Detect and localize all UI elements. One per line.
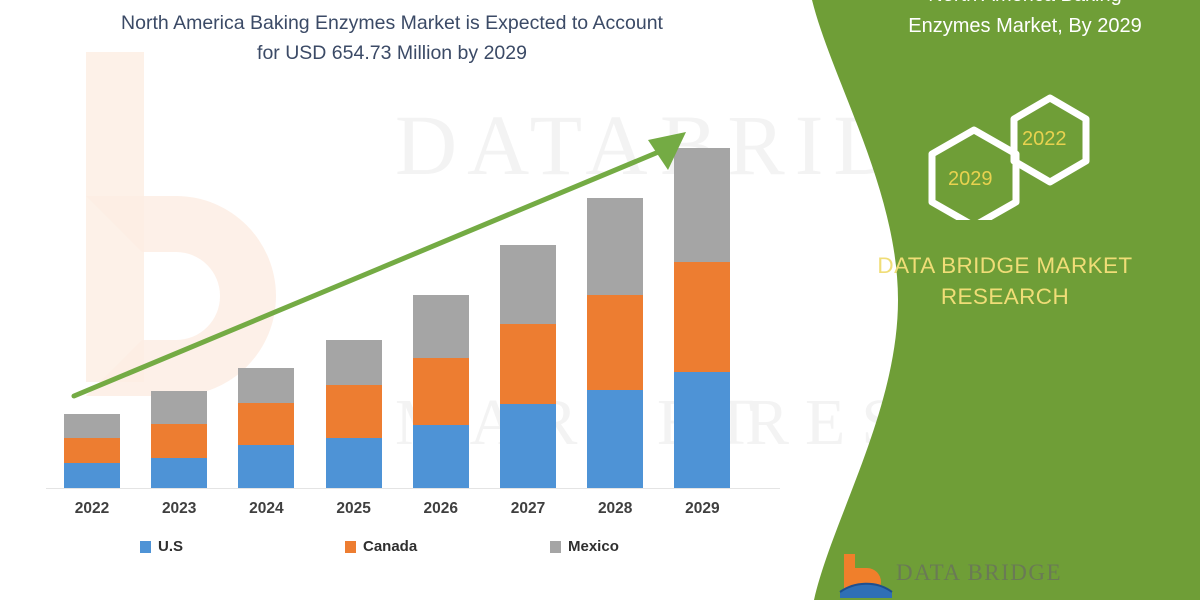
stacked-bar-chart: 20222023202420252026202720282029: [0, 0, 800, 600]
legend-item-us[interactable]: U.S: [140, 538, 345, 555]
panel-title: North America Baking Enzymes Market, By …: [855, 0, 1195, 42]
hexagon-outlines-icon: [910, 90, 1110, 220]
panel-title-line-1: North America Baking: [855, 0, 1195, 11]
brand-name: DATA BRIDGE MARKET RESEARCH: [840, 250, 1170, 312]
brand-side-panel: North America Baking Enzymes Market, By …: [780, 0, 1200, 600]
legend-label: Mexico: [568, 538, 619, 555]
legend-label: U.S: [158, 538, 183, 555]
data-bridge-logo: DATA BRIDGE: [838, 552, 1068, 600]
legend-label: Canada: [363, 538, 417, 555]
panel-content: North America Baking Enzymes Market, By …: [780, 0, 1200, 600]
hexagon-label-2029: 2029: [948, 168, 993, 191]
legend-swatch-mexico: [550, 541, 561, 553]
growth-arrow-icon: [0, 0, 800, 600]
chart-legend: U.SCanadaMexico: [140, 538, 720, 555]
hexagon-label-2022: 2022: [1022, 128, 1067, 151]
logo-text: DATA BRIDGE: [896, 560, 1062, 586]
legend-swatch-canada: [345, 541, 356, 553]
legend-swatch-us: [140, 541, 151, 553]
legend-item-mexico[interactable]: Mexico: [550, 538, 619, 555]
hexagon-group: 2022 2029: [910, 90, 1110, 220]
infographic-root: DATA BRIDGE MARKET RESEARCH North Americ…: [0, 0, 1200, 600]
brand-name-line-2: RESEARCH: [840, 281, 1170, 312]
panel-title-line-2: Enzymes Market, By 2029: [855, 11, 1195, 42]
legend-item-canada[interactable]: Canada: [345, 538, 550, 555]
data-bridge-b-icon: [838, 552, 894, 598]
brand-name-line-1: DATA BRIDGE MARKET: [840, 250, 1170, 281]
